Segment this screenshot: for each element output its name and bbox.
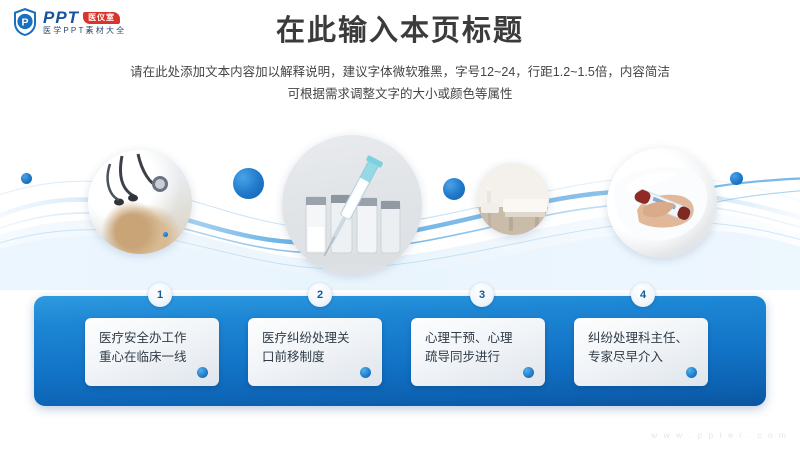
step-badge-4: 4 — [631, 283, 655, 307]
subtitle-line-1: 请在此处添加文本内容加以解释说明，建议字体微软雅黑，字号12~24，行距1.2~… — [0, 62, 800, 84]
step-card-2-line-2: 口前移制度 — [262, 348, 382, 367]
step-card-3-text: 心理干预、心理 疏导同步进行 — [425, 329, 545, 368]
photo-examination-room — [477, 163, 549, 235]
step-badge-3: 3 — [470, 283, 494, 307]
accent-dot-small-far-left — [21, 173, 32, 184]
step-card-1-dot-icon — [197, 367, 208, 378]
footer-watermark: w w w . p p t e r . c o m — [651, 430, 788, 440]
step-card-1[interactable]: 医疗安全办工作 重心在临床一线 — [85, 318, 219, 386]
step-card-3-line-2: 疏导同步进行 — [425, 348, 545, 367]
subtitle-line-2: 可根据需求调整文字的大小或颜色等属性 — [0, 84, 800, 106]
stethoscope-icon — [88, 150, 192, 254]
step-badge-2: 2 — [308, 283, 332, 307]
step-card-4-line-1: 纠纷处理科主任、 — [588, 329, 708, 348]
photo-hand-holding-blood-tube — [607, 148, 717, 258]
accent-dot-tiny-wave — [163, 232, 168, 237]
step-badge-1: 1 — [148, 283, 172, 307]
step-card-1-text: 医疗安全办工作 重心在临床一线 — [99, 329, 219, 368]
step-card-4[interactable]: 纠纷处理科主任、 专家尽早介入 — [574, 318, 708, 386]
step-card-2-dot-icon — [360, 367, 371, 378]
step-card-2-line-1: 医疗纠纷处理关 — [262, 329, 382, 348]
step-card-4-dot-icon — [686, 367, 697, 378]
step-card-2[interactable]: 医疗纠纷处理关 口前移制度 — [248, 318, 382, 386]
step-card-4-text: 纠纷处理科主任、 专家尽早介入 — [588, 329, 708, 368]
page-subtitle: 请在此处添加文本内容加以解释说明，建议字体微软雅黑，字号12~24，行距1.2~… — [0, 62, 800, 106]
accent-dot-large-left — [233, 168, 264, 199]
step-card-2-text: 医疗纠纷处理关 口前移制度 — [262, 329, 382, 368]
photo-syringe-and-vials — [282, 135, 422, 275]
step-card-3-line-1: 心理干预、心理 — [425, 329, 545, 348]
step-card-3-dot-icon — [523, 367, 534, 378]
step-card-3[interactable]: 心理干预、心理 疏导同步进行 — [411, 318, 545, 386]
step-card-1-line-1: 医疗安全办工作 — [99, 329, 219, 348]
photo-doctor-with-stethoscope — [88, 150, 192, 254]
blood-tube-graphic — [607, 148, 717, 258]
accent-dot-small-right — [730, 172, 743, 185]
step-card-4-line-2: 专家尽早介入 — [588, 348, 708, 367]
accent-dot-medium-center — [443, 178, 465, 200]
exam-room-graphic — [477, 163, 549, 235]
step-card-1-line-2: 重心在临床一线 — [99, 348, 219, 367]
vials-and-syringe-graphic — [282, 135, 422, 275]
page-title: 在此输入本页标题 — [0, 14, 800, 49]
